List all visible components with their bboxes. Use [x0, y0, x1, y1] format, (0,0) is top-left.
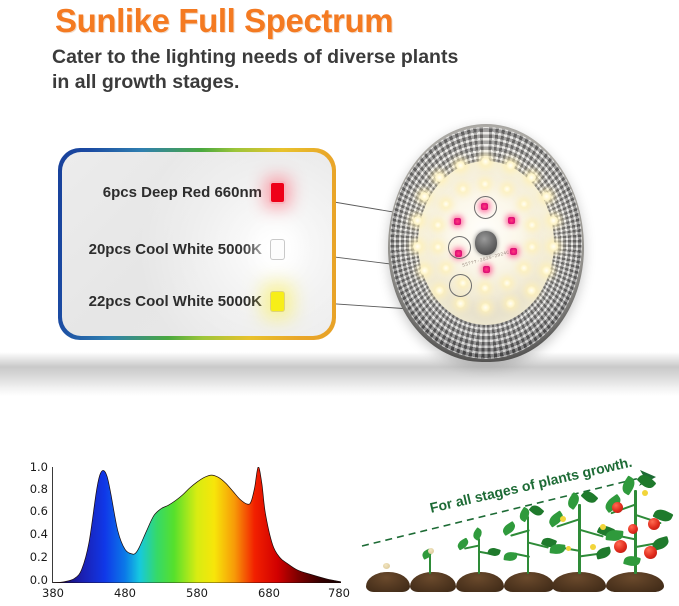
led-white [549, 242, 558, 251]
led-legend-card: 6pcs Deep Red 660nm 20pcs Cool White 500… [58, 148, 336, 340]
led-white [520, 200, 528, 208]
soil-mound [552, 572, 606, 592]
led-white [420, 266, 429, 275]
led-white [506, 299, 515, 308]
led-white [435, 173, 444, 182]
page-subtitle: Cater to the lighting needs of diverse p… [52, 45, 472, 95]
x-tick-480: 480 [114, 586, 136, 600]
y-tick-0-2: 0.2 [30, 552, 48, 563]
spectrum-curve [53, 467, 341, 583]
led-white [481, 180, 489, 188]
led-white [542, 266, 551, 275]
y-tick-0-6: 0.6 [30, 506, 48, 517]
highlight-circle-warm-white [449, 274, 472, 297]
led-white [481, 303, 490, 312]
cool-white-led-chip [271, 240, 284, 259]
led-deep-red [483, 266, 490, 273]
legend-item-deep-red[interactable]: 6pcs Deep Red 660nm [62, 179, 332, 205]
led-white [506, 161, 515, 170]
legend-label-cool-white-22: 22pcs Cool White 5000K [62, 293, 271, 310]
led-white [503, 279, 511, 287]
legend-label-deep-red: 6pcs Deep Red 660nm [62, 184, 271, 201]
led-grow-light-bulb: SS???-2835-2924C [388, 124, 584, 370]
led-white [434, 243, 442, 251]
soil-mound [606, 572, 664, 592]
x-tick-680: 680 [258, 586, 280, 600]
tomato-fruit [612, 502, 623, 513]
legend-item-cool-white-22[interactable]: 22pcs Cool White 5000K [62, 288, 332, 314]
led-white [456, 161, 465, 170]
legend-item-cool-white-20[interactable]: 20pcs Cool White 5000K [62, 236, 332, 262]
led-white [503, 185, 511, 193]
led-white [456, 299, 465, 308]
tomato-fruit [628, 524, 638, 534]
highlight-circle-deep-red [474, 196, 497, 219]
deep-red-led-chip [271, 183, 284, 202]
plant-stage-6-flower [642, 490, 648, 496]
soil-mound [504, 572, 554, 592]
led-white [442, 264, 450, 272]
chart-plot-area [53, 467, 341, 583]
led-white [520, 264, 528, 272]
led-white [527, 173, 536, 182]
x-tick-380: 380 [42, 586, 64, 600]
plant-stage-5-stem [578, 504, 581, 574]
led-deep-red [454, 218, 461, 225]
led-deep-red [508, 217, 515, 224]
led-white [442, 200, 450, 208]
highlight-circle-cool-white [448, 236, 471, 259]
chart-x-axis-labels: 380 480 580 680 780 [18, 586, 344, 602]
plant-stage-5-flower [590, 544, 596, 550]
tomato-fruit [614, 540, 627, 553]
y-tick-0-8: 0.8 [30, 484, 48, 495]
plant-growth-stages: For all stages of plants growth. [352, 460, 678, 606]
led-white [481, 284, 489, 292]
led-legend-card-inner: 6pcs Deep Red 660nm 20pcs Cool White 500… [62, 152, 332, 336]
led-white [527, 286, 536, 295]
led-white [413, 216, 422, 225]
plant-stage-5-flower [566, 546, 571, 551]
led-deep-red [510, 248, 517, 255]
led-white [413, 242, 422, 251]
x-tick-780: 780 [328, 586, 350, 600]
chart-y-axis-labels: 1.0 0.8 0.6 0.4 0.2 0.0 [18, 462, 48, 584]
spectrum-chart: 1.0 0.8 0.6 0.4 0.2 0.0 [18, 462, 344, 604]
warm-white-led-chip [271, 292, 284, 311]
product-infographic: Sunlike Full Spectrum Cater to the light… [0, 0, 679, 606]
led-white [542, 192, 551, 201]
page-title: Sunlike Full Spectrum [55, 2, 393, 40]
led-white [459, 185, 467, 193]
led-white [481, 157, 490, 166]
y-tick-0-0: 0.0 [30, 575, 48, 586]
plant-stage-1-seed [383, 563, 390, 569]
y-tick-0-4: 0.4 [30, 529, 48, 540]
tomato-fruit [648, 518, 660, 530]
legend-label-cool-white-20: 20pcs Cool White 5000K [62, 241, 271, 258]
y-tick-1-0: 1.0 [30, 462, 48, 473]
lamp-center-module [475, 231, 497, 255]
led-white [549, 216, 558, 225]
led-white [434, 221, 442, 229]
plant-stage-5-flower [600, 524, 606, 530]
plant-stage-2-seedcoat [428, 548, 434, 554]
led-white [420, 192, 429, 201]
led-white [528, 221, 536, 229]
tomato-fruit [644, 546, 657, 559]
led-white [435, 286, 444, 295]
soil-mound [410, 572, 456, 592]
soil-mound [366, 572, 410, 592]
plant-stage-5-flower [560, 516, 566, 522]
soil-mound [456, 572, 504, 592]
x-tick-580: 580 [186, 586, 208, 600]
led-white [528, 243, 536, 251]
lamp-body: SS???-2835-2924C [388, 124, 584, 362]
